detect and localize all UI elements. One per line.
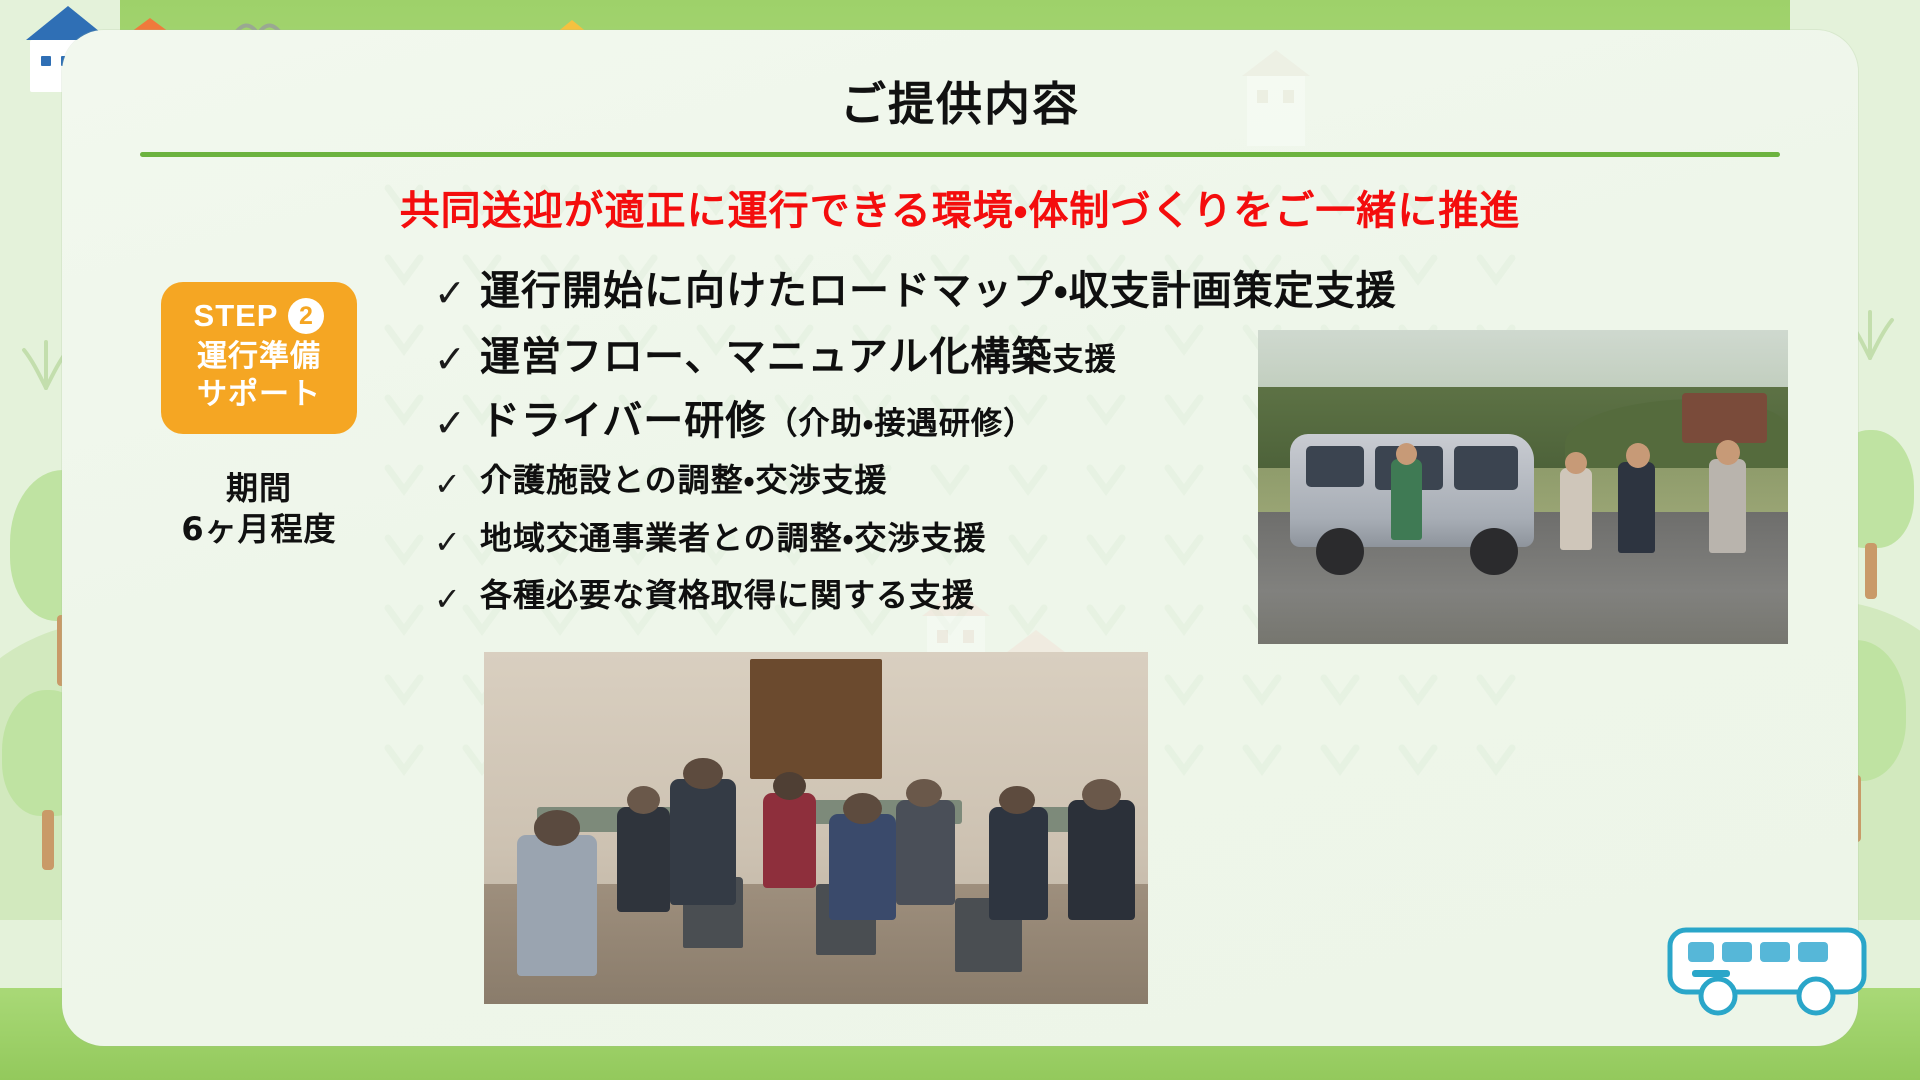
period-value: 6ヶ月程度 [152, 509, 366, 551]
service-list-item-label: 各種必要な資格取得に関する支援 [480, 576, 975, 614]
service-item-main-text: 介護施設との調整・交渉支援 [480, 461, 888, 499]
slide-subtitle: 共同送迎が適正に運行できる環境・体制づくりをご一緒に推進 [62, 178, 1858, 236]
training-session-photo: 介助・接遇研修の様子 [484, 652, 1148, 1004]
check-icon: ✓ [434, 461, 480, 502]
step-badge: STEP 2 運行準備 サポート [161, 282, 357, 434]
service-item-sub-text: （介助・接遇研修） [766, 406, 1035, 442]
slide-root: ご提供内容 共同送迎が適正に運行できる環境・体制づくりをご一緒に推進 STEP … [0, 0, 1920, 1080]
service-list-item-label: 運営フロー、マニュアル化構築支援 [480, 334, 1117, 381]
step-number: 2 [288, 298, 324, 334]
van-icon [1662, 900, 1872, 1030]
content-card: ご提供内容 共同送迎が適正に運行できる環境・体制づくりをご一緒に推進 STEP … [62, 30, 1858, 1046]
van-boarding-photo: 送迎車両への乗降の様子 [1258, 330, 1788, 644]
service-list-item-label: ドライバー研修（介助・接遇研修） [480, 398, 1035, 445]
step-label: STEP [194, 298, 279, 334]
page-title: ご提供内容 [62, 68, 1858, 134]
title-divider [140, 152, 1780, 157]
check-icon: ✓ [434, 268, 480, 316]
service-list-item-label: 介護施設との調整・交渉支援 [480, 461, 888, 499]
period-label: 期間 [152, 468, 366, 510]
check-icon: ✓ [434, 334, 480, 382]
period-block: 期間 6ヶ月程度 [152, 468, 366, 551]
service-item-main-text: ドライバー研修 [480, 398, 766, 444]
service-item-main-text: 運営フロー、マニュアル化構築 [480, 334, 1052, 380]
service-item-main-text: 運行開始に向けたロードマップ・収支計画策定支援 [480, 268, 1397, 314]
step-name-line1: 運行準備 [161, 338, 357, 376]
check-icon: ✓ [434, 398, 480, 446]
service-list-item: ✓運行開始に向けたロードマップ・収支計画策定支援 [434, 268, 1444, 316]
step-name-line2: サポート [161, 376, 357, 414]
check-icon: ✓ [434, 519, 480, 560]
check-icon: ✓ [434, 576, 480, 617]
service-item-main-text: 各種必要な資格取得に関する支援 [480, 576, 975, 614]
service-item-main-text: 地域交通事業者との調整・交渉支援 [480, 519, 987, 557]
service-list-item-label: 運行開始に向けたロードマップ・収支計画策定支援 [480, 268, 1397, 315]
step-column: STEP 2 運行準備 サポート 期間 6ヶ月程度 [152, 282, 366, 551]
service-item-sub-text: 支援 [1052, 342, 1116, 378]
step-badge-header: STEP 2 [161, 298, 357, 334]
service-list-item-label: 地域交通事業者との調整・交渉支援 [480, 519, 987, 557]
